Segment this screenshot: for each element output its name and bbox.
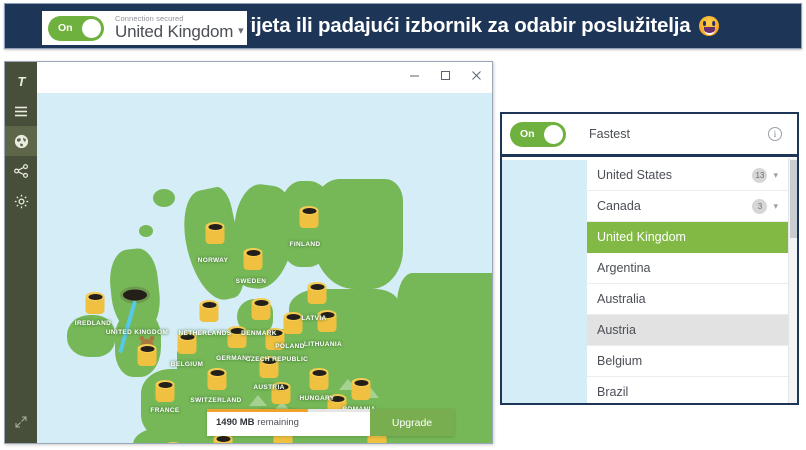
map-country-label: CZECH REPUBLIC (246, 356, 308, 363)
minimize-button[interactable] (399, 62, 430, 88)
map-country-label: SWITZERLAND (190, 397, 241, 404)
server-marker[interactable] (300, 206, 319, 228)
data-usage-bar: 1490 MB remaining Upgrade (207, 409, 454, 436)
server-list-item[interactable]: Canada3▾ (587, 191, 788, 222)
toggle-knob (82, 19, 101, 38)
dropdown-scrollbar[interactable]: ▲ (788, 158, 797, 403)
connection-text-group: Connection secured United Kingdom ▾ (115, 15, 244, 41)
server-list-item-label: Argentina (597, 261, 788, 275)
settings-icon[interactable] (5, 186, 37, 216)
map-country-label: BELGIUM (171, 361, 203, 368)
map-country-label: SWEDEN (236, 278, 267, 285)
server-list-item[interactable]: Austria (587, 315, 788, 346)
screenshot-root: Koristite kartu svijeta ili padajući izb… (0, 0, 806, 450)
dropdown-toggle-label: On (520, 128, 535, 140)
map-country-label: HUNGARY (299, 395, 334, 402)
app-logo-text: T (18, 74, 25, 89)
resize-handle-icon[interactable] (5, 407, 37, 437)
server-list-item-label: Brazil (597, 385, 788, 399)
data-remaining-text: 1490 MB remaining (216, 417, 299, 428)
vpn-toggle-label: On (58, 22, 73, 34)
server-list[interactable]: United States13▾Canada3▾United KingdomAr… (587, 160, 788, 403)
chevron-down-icon[interactable]: ▾ (773, 201, 778, 212)
chevron-down-icon[interactable]: ▾ (238, 26, 243, 38)
server-marker[interactable] (352, 378, 371, 400)
maximize-button[interactable] (430, 62, 461, 88)
globe-icon[interactable] (5, 126, 37, 156)
close-button[interactable] (461, 62, 492, 88)
app-sidebar: T (5, 62, 37, 443)
server-marker[interactable] (138, 344, 157, 366)
map-country-label: AUSTRIA (253, 384, 284, 391)
server-list-item-label: United Kingdom (597, 230, 788, 244)
server-marker[interactable] (208, 368, 227, 390)
server-marker[interactable] (86, 292, 105, 314)
server-list-item-label: Austria (597, 323, 788, 337)
connection-status-pill[interactable]: On Connection secured United Kingdom ▾ (39, 8, 250, 48)
menu-icon[interactable] (5, 96, 37, 126)
fastest-label: Fastest (589, 127, 768, 141)
data-progress-fill (207, 409, 308, 412)
server-marker[interactable] (200, 300, 219, 322)
chevron-down-icon[interactable]: ▾ (773, 170, 778, 181)
server-list-item-label: Australia (597, 292, 788, 306)
upgrade-button[interactable]: Upgrade (370, 409, 454, 436)
connected-country-name: United Kingdom (115, 23, 233, 41)
map-country-label: IREDLAND (75, 320, 111, 327)
server-list-item-label: United States (597, 168, 752, 182)
data-remaining-suffix: remaining (255, 417, 299, 428)
map-country-label: DENMARK (241, 330, 277, 337)
map-country-label: NORWAY (198, 257, 229, 264)
server-marker[interactable] (206, 222, 225, 244)
server-dropdown-panel: On Fastest i United States13▾Canada3▾Uni… (500, 112, 799, 405)
server-list-item[interactable]: Argentina (587, 253, 788, 284)
server-list-item[interactable]: Brazil (587, 377, 788, 405)
server-marker[interactable] (284, 312, 303, 334)
server-list-item[interactable]: Australia (587, 284, 788, 315)
map-country-label: LITHUANIA (304, 341, 342, 348)
world-map[interactable]: NORWAYSWEDENFINLANDDENMARKLATVIALITHUANI… (37, 93, 492, 443)
server-marker[interactable] (244, 248, 263, 270)
server-list-item-label: Belgium (597, 354, 788, 368)
scrollbar-thumb[interactable] (790, 160, 797, 238)
info-icon[interactable]: i (768, 127, 782, 141)
connected-country[interactable]: United Kingdom ▾ (115, 23, 244, 41)
map-country-label: NETHERLANDS (179, 330, 232, 337)
map-country-label: UNITED KINGDOM (106, 329, 168, 336)
server-marker[interactable] (156, 380, 175, 402)
dropdown-power-toggle[interactable]: On (510, 122, 566, 147)
server-list-item[interactable]: United Kingdom (587, 222, 788, 253)
server-count-badge: 13 (752, 168, 767, 183)
vpn-power-toggle[interactable]: On (48, 16, 104, 41)
network-icon[interactable] (5, 156, 37, 186)
server-list-item-label: Canada (597, 199, 752, 213)
server-marker[interactable] (308, 282, 327, 304)
server-marker[interactable] (252, 298, 271, 320)
fastest-row[interactable]: On Fastest i (502, 114, 797, 157)
server-list-item[interactable]: Belgium (587, 346, 788, 377)
map-country-label: FRANCE (150, 407, 179, 414)
toggle-knob (544, 125, 563, 144)
app-logo-icon: T (5, 66, 37, 96)
server-marker[interactable] (310, 368, 329, 390)
data-remaining-box: 1490 MB remaining (207, 409, 370, 436)
map-country-label: FINLAND (290, 241, 321, 248)
map-country-label: POLAND (275, 343, 305, 350)
map-country-label: LATVIA (301, 315, 326, 322)
grinning-face-emoji (699, 16, 719, 36)
server-count-badge: 3 (752, 199, 767, 214)
data-remaining-amount: 1490 MB (216, 417, 255, 428)
dropdown-side-strip (502, 160, 587, 403)
server-list-item[interactable]: United States13▾ (587, 160, 788, 191)
window-titlebar (37, 62, 492, 93)
vpn-app-window: T (4, 61, 493, 444)
server-marker[interactable] (164, 442, 183, 443)
